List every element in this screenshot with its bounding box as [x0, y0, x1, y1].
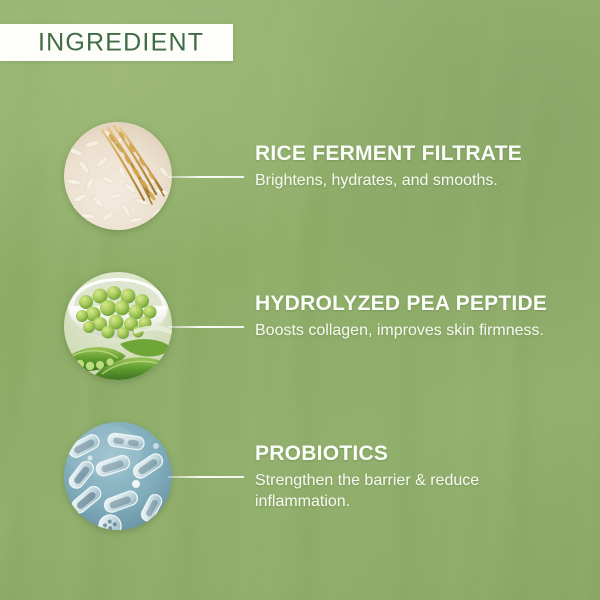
ingredient-row-pea: HYDROLYZED PEA PEPTIDE Boosts collagen, … [0, 272, 600, 382]
ingredient-text-rice: RICE FERMENT FILTRATE Brightens, hydrate… [255, 142, 585, 191]
ingredient-row-rice: RICE FERMENT FILTRATE Brightens, hydrate… [0, 122, 600, 232]
header-banner: INGREDIENT [0, 24, 233, 61]
ingredient-title: PROBIOTICS [255, 442, 585, 465]
connector-line [168, 476, 244, 478]
ingredient-description: Brightens, hydrates, and smooths. [255, 170, 560, 191]
ingredient-description: Boosts collagen, improves skin firmness. [255, 320, 560, 341]
rice-grains-photo [64, 122, 172, 230]
ingredient-title: HYDROLYZED PEA PEPTIDE [255, 292, 585, 315]
ingredient-row-probiotics: PROBIOTICS Strengthen the barrier & redu… [0, 422, 600, 532]
probiotic-bacteria-photo [64, 422, 172, 530]
ingredient-description: Strengthen the barrier & reduce inflamma… [255, 470, 560, 513]
ingredient-title: RICE FERMENT FILTRATE [255, 142, 585, 165]
ingredient-text-pea: HYDROLYZED PEA PEPTIDE Boosts collagen, … [255, 292, 585, 341]
ingredient-infographic: INGREDIENT [0, 0, 600, 600]
ingredient-text-probiotics: PROBIOTICS Strengthen the barrier & redu… [255, 442, 585, 513]
connector-line [168, 326, 244, 328]
connector-line [168, 176, 244, 178]
green-peas-photo [64, 272, 172, 380]
page-title: INGREDIENT [38, 28, 204, 57]
